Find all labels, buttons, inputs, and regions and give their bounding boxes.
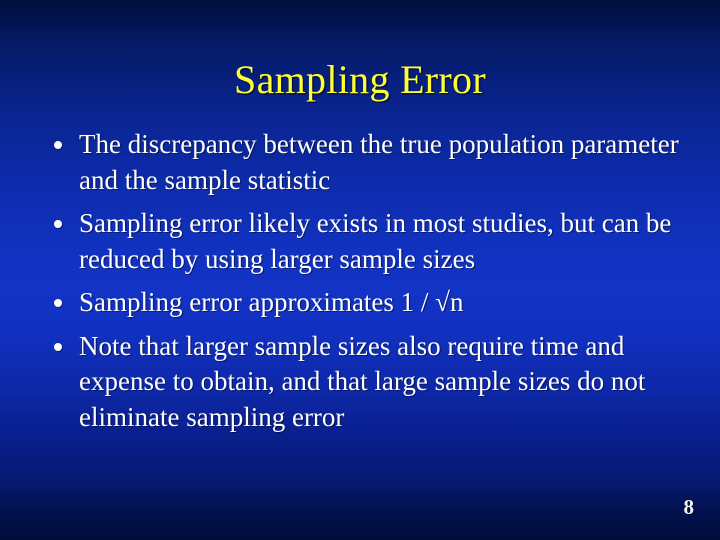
bullet-text: Note that larger sample sizes also requi… — [79, 329, 680, 436]
bullet-point-icon — [54, 220, 62, 228]
slide-body-content: The discrepancy between the true populat… — [50, 127, 680, 435]
bullet-point-icon — [54, 299, 62, 307]
bullet-point-icon — [54, 343, 62, 351]
bullet-text: The discrepancy between the true populat… — [79, 127, 680, 198]
slide-title: Sampling Error — [0, 57, 720, 103]
bullet-text: Sampling error approximates 1 / √n — [79, 285, 680, 321]
bullet-point-icon — [54, 141, 62, 149]
list-item: Sampling error approximates 1 / √n — [50, 285, 680, 321]
presentation-slide: Sampling Error The discrepancy between t… — [0, 0, 720, 540]
list-item: The discrepancy between the true populat… — [50, 127, 680, 198]
list-item: Sampling error likely exists in most stu… — [50, 206, 680, 277]
bullet-text: Sampling error likely exists in most stu… — [79, 206, 680, 277]
slide-number: 8 — [684, 496, 695, 518]
list-item: Note that larger sample sizes also requi… — [50, 329, 680, 436]
